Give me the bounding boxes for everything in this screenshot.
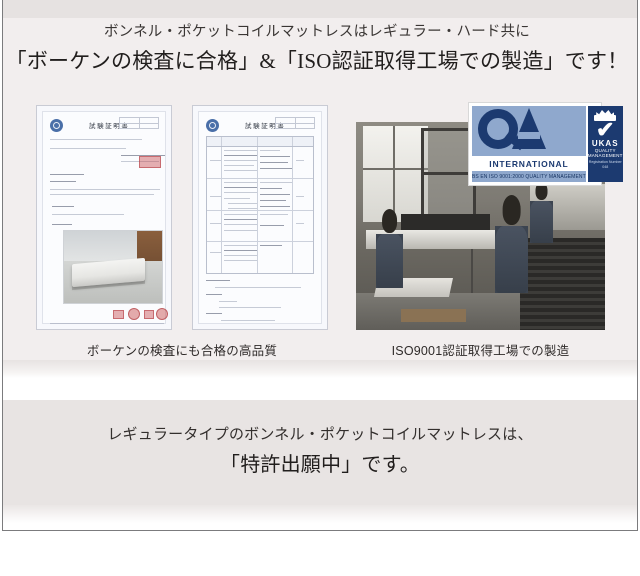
caption-certificates: ボーケンの検査にも合格の高品質 [36,340,328,359]
qa-international-certification-logo: INTERNATIONAL BS EN ISO 9001:2000 QUALIT… [468,102,602,186]
approval-stamp [139,156,161,168]
patent-section-fade [3,505,637,523]
document-page: 試験証明書 [198,111,322,324]
test-certificate-document-1: 試験証明書 [36,105,172,330]
crown-icon [592,109,618,122]
table-cell [207,147,222,178]
factory-window-frame [393,126,395,222]
approval-stamp-round [128,308,140,320]
test-certificate-document-2: 試験証明書 [192,105,328,330]
column-header [207,137,222,146]
column-header [258,137,293,146]
reference-row [275,123,315,129]
table-row [207,147,313,179]
checkmark-icon: ✔ [596,121,614,139]
document-reference-table [119,117,159,129]
document-text-line [50,194,154,195]
table-row [207,242,313,273]
qa-international-label: INTERNATIONAL [472,156,586,171]
page-frame-right-border [637,0,638,531]
reference-cell [120,118,140,123]
headline-line-2: 「ボーケンの検査に合格」&「ISO認証取得工場での製造」です！ [0,46,634,76]
table-cell [222,179,258,210]
reference-cell [276,118,296,123]
document-text-line [219,307,281,308]
testing-institute-seal-icon [206,119,219,132]
document-text-line [52,224,72,225]
factory-window [363,126,428,222]
document-text-line [221,320,275,321]
ukas-registration-number-value: 048 [602,165,608,169]
table-cell [222,147,258,178]
reference-cell [140,118,159,123]
reference-cell [120,124,140,128]
table-cell [222,242,258,273]
table-cell [207,242,222,273]
headline: ボンネル・ポケットコイルマットレスはレギュラー・ハード共に 「ボーケンの検査に合… [0,22,634,76]
top-strip [3,0,637,18]
approval-stamp [144,310,154,319]
reference-cell [140,124,159,128]
mattress-sample-photo [63,230,163,304]
ukas-sub-line-2: MANAGEMENT [588,153,623,158]
factory-worker [376,234,403,288]
table-row [207,179,313,211]
table-cell [258,242,293,273]
table-cell [258,147,293,178]
document-footnote-line [50,323,164,324]
document-page: 試験証明書 [42,111,166,324]
table-cell [293,242,313,273]
document-text-line [52,214,124,215]
document-text-line [206,294,222,295]
table-cell [222,211,258,242]
qa-monogram-icon [472,106,586,156]
caption-factory: ISO9001認証取得工場での製造 [356,340,605,359]
logo-inner: INTERNATIONAL BS EN ISO 9001:2000 QUALIT… [472,106,598,182]
table-cell [293,147,313,178]
table-cell [258,211,293,242]
page-frame-bottom-border [2,530,638,531]
headline-line-1: ボンネル・ポケットコイルマットレスはレギュラー・ハード共に [0,22,634,44]
ukas-accreditation-block: ✔ UKAS QUALITY MANAGEMENT Registration N… [588,106,623,182]
factory-pallet [401,309,466,321]
document-text-line [52,206,74,207]
table-cell [293,179,313,210]
certification-section-fade [3,360,637,378]
table-row [207,211,313,243]
reference-cell [276,124,296,128]
factory-foam-stack [520,238,605,330]
factory-worker [495,226,527,293]
table-cell [207,179,222,210]
document-text-line [206,313,222,314]
reference-row [275,117,315,123]
factory-window-frame [363,168,428,170]
reference-cell [296,124,315,128]
iso-standard-label: BS EN ISO 9001:2000 QUALITY MANAGEMENT [472,171,586,182]
reference-row [119,123,159,129]
marketing-page: ボンネル・ポケットコイルマットレスはレギュラー・ハード共に 「ボーケンの検査に合… [0,0,640,576]
patent-notice: レギュラータイプのボンネル・ポケットコイルマットレスは、 「特許出願中」です。 [3,424,637,480]
column-header [293,137,313,146]
reference-cell [296,118,315,123]
ukas-label: UKAS [592,139,619,148]
document-text-line [50,181,76,182]
document-text-line [215,287,301,288]
document-reference-table [275,117,315,129]
reference-row [119,117,159,123]
qa-international-block: INTERNATIONAL BS EN ISO 9001:2000 QUALIT… [472,106,586,182]
table-header-row [207,137,313,147]
table-cell [258,179,293,210]
testing-institute-seal-icon [50,119,63,132]
patent-line-1: レギュラータイプのボンネル・ポケットコイルマットレスは、 [3,424,637,447]
test-results-table [206,136,314,274]
approval-stamp [113,310,124,319]
document-text-line [219,301,237,302]
approval-stamp-round [156,308,168,320]
patent-line-2: 「特許出願中」です。 [3,450,637,480]
ukas-registration-number-label: Registration Number [589,160,622,164]
document-text-line [50,174,84,175]
document-text-line [50,189,160,190]
factory-worker [530,201,552,243]
table-cell [293,211,313,242]
document-text-line [206,280,230,281]
document-text-line [50,139,142,140]
column-header [222,137,258,146]
letter-a-icon [512,108,546,149]
table-cell [207,211,222,242]
document-text-line [50,148,126,149]
